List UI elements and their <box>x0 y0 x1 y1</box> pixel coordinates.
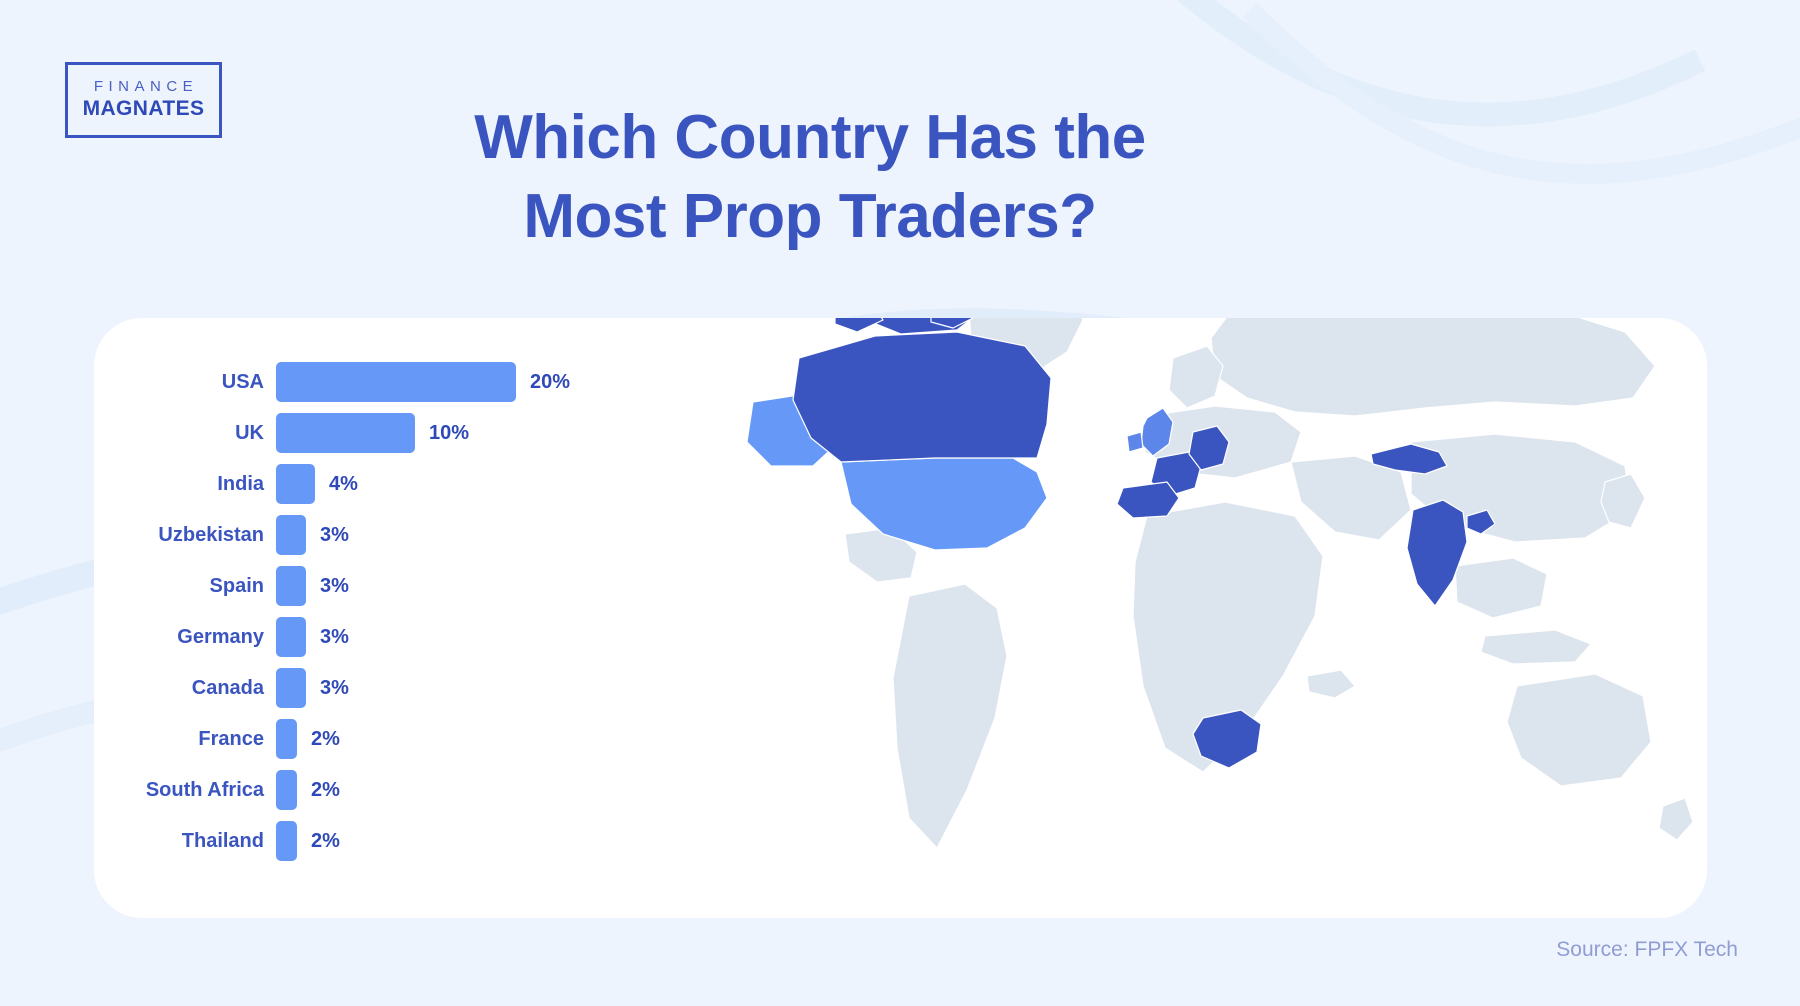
bar-south-africa <box>276 770 297 810</box>
bar-row: Spain 3% <box>94 564 654 608</box>
bar-value-uk: 10% <box>429 422 469 445</box>
bar-row: France 2% <box>94 717 654 761</box>
bar-label-usa: USA <box>94 371 276 394</box>
bar-label-uk: UK <box>94 422 276 445</box>
bar-label-france: France <box>94 728 276 751</box>
content-card: USA 20% UK 10% India 4% Uzbekistan 3% Sp… <box>94 318 1707 918</box>
bar-label-spain: Spain <box>94 575 276 598</box>
map-country-ireland-uk <box>1127 432 1143 452</box>
bar-canada <box>276 668 306 708</box>
bar-germany <box>276 617 306 657</box>
bar-row: Germany 3% <box>94 615 654 659</box>
page-title: Which Country Has the Most Prop Traders? <box>360 98 1260 257</box>
logo-line-magnates: MAGNATES <box>83 97 205 121</box>
bar-value-south-africa: 2% <box>311 779 340 802</box>
bar-label-canada: Canada <box>94 677 276 700</box>
bar-india <box>276 464 315 504</box>
bar-label-uzbekistan: Uzbekistan <box>94 524 276 547</box>
bar-row: Canada 3% <box>94 666 654 710</box>
bar-value-uzbekistan: 3% <box>320 524 349 547</box>
bar-value-usa: 20% <box>530 371 570 394</box>
bar-row: South Africa 2% <box>94 768 654 812</box>
bar-usa <box>276 362 516 402</box>
bar-value-india: 4% <box>329 473 358 496</box>
bar-value-germany: 3% <box>320 626 349 649</box>
bar-row: Thailand 2% <box>94 819 654 863</box>
bar-label-thailand: Thailand <box>94 830 276 853</box>
bar-uk <box>276 413 415 453</box>
bar-spain <box>276 566 306 606</box>
bar-row: India 4% <box>94 462 654 506</box>
source-credit: Source: FPFX Tech <box>1556 938 1738 962</box>
logo-line-finance: FINANCE <box>89 79 198 96</box>
title-line-2: Most Prop Traders? <box>523 182 1096 251</box>
bar-row: Uzbekistan 3% <box>94 513 654 557</box>
bar-label-south-africa: South Africa <box>94 779 276 802</box>
bar-uzbekistan <box>276 515 306 555</box>
bar-france <box>276 719 297 759</box>
bar-thailand <box>276 821 297 861</box>
map-country-spain <box>1117 482 1179 518</box>
bar-label-germany: Germany <box>94 626 276 649</box>
map-country-canada <box>793 332 1051 462</box>
title-line-1: Which Country Has the <box>474 103 1146 172</box>
bar-row: USA 20% <box>94 360 654 404</box>
world-map <box>695 318 1707 918</box>
bar-value-canada: 3% <box>320 677 349 700</box>
bar-label-india: India <box>94 473 276 496</box>
bar-chart: USA 20% UK 10% India 4% Uzbekistan 3% Sp… <box>94 360 654 870</box>
bar-row: UK 10% <box>94 411 654 455</box>
bar-value-france: 2% <box>311 728 340 751</box>
bar-value-spain: 3% <box>320 575 349 598</box>
bar-value-thailand: 2% <box>311 830 340 853</box>
brand-logo: FINANCE MAGNATES <box>65 62 222 138</box>
